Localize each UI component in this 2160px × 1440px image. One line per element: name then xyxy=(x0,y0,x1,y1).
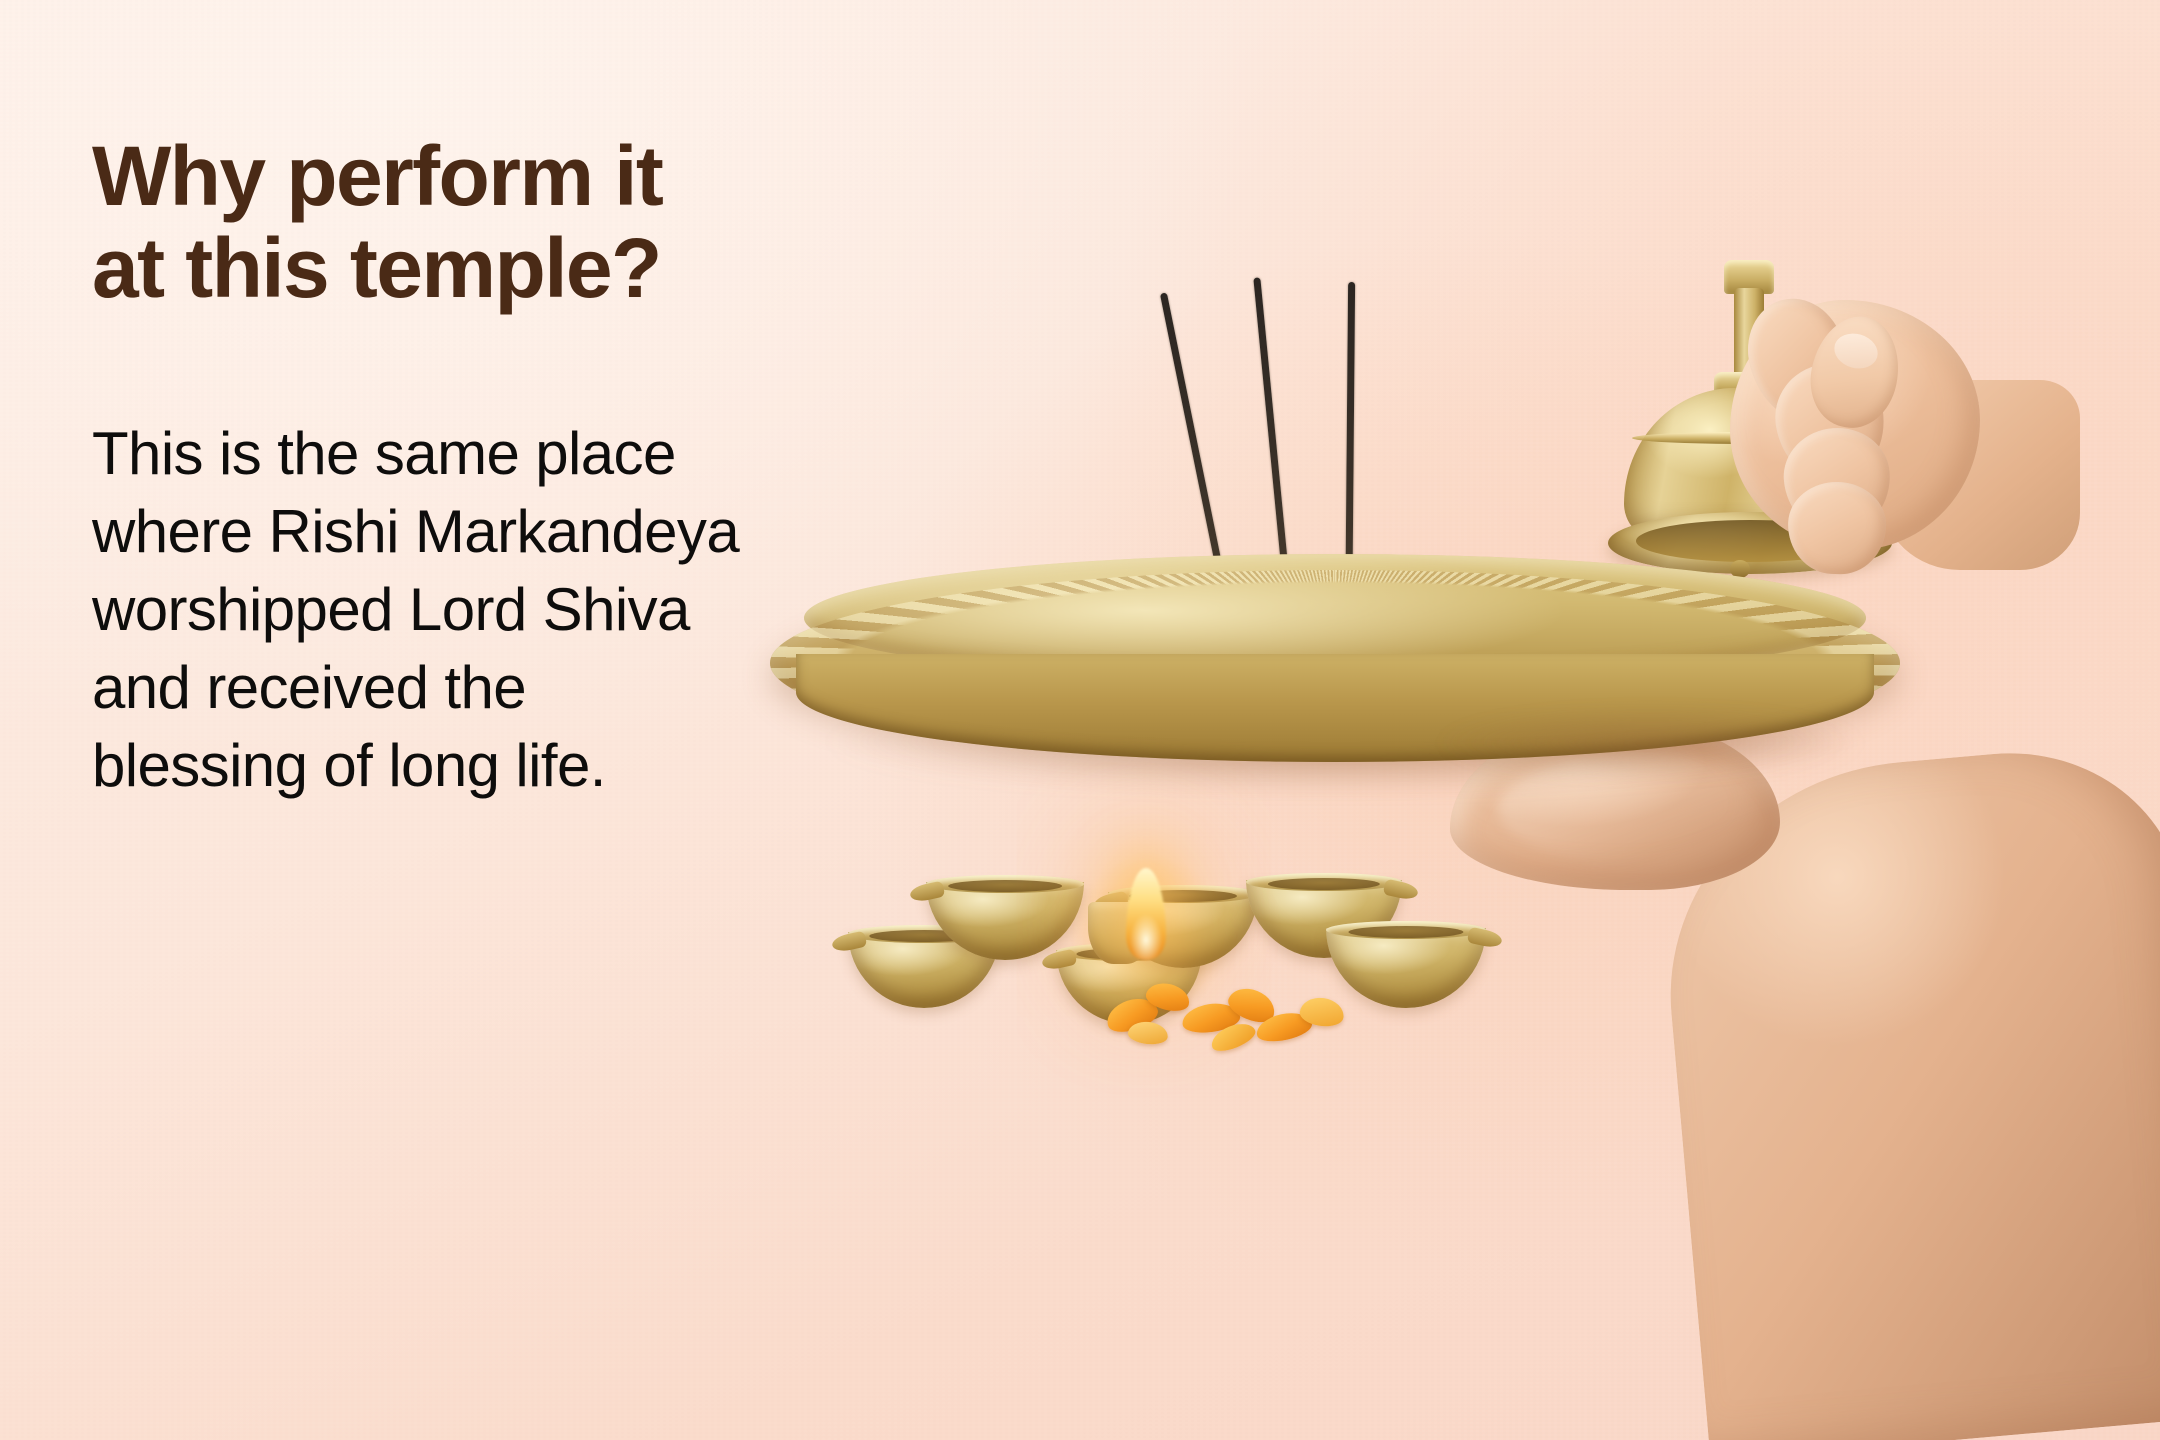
body-line-1: This is the same place xyxy=(92,415,992,493)
page-title: Why perform it at this temple? xyxy=(92,130,1032,315)
marigold-petals-group xyxy=(1100,970,1400,1056)
marigold-petal xyxy=(1127,1020,1169,1046)
headline-line-1: Why perform it xyxy=(92,130,1032,222)
thali-contact-shadow xyxy=(1440,708,1860,778)
slide-canvas: Why perform it at this temple? This is t… xyxy=(0,0,2160,1440)
diya-spout xyxy=(831,931,868,954)
headline-line-2: at this temple? xyxy=(92,222,1032,314)
puja-photo xyxy=(1020,250,2160,1440)
hand-holding-thali xyxy=(1380,720,2160,1440)
diya-spout xyxy=(909,881,946,904)
